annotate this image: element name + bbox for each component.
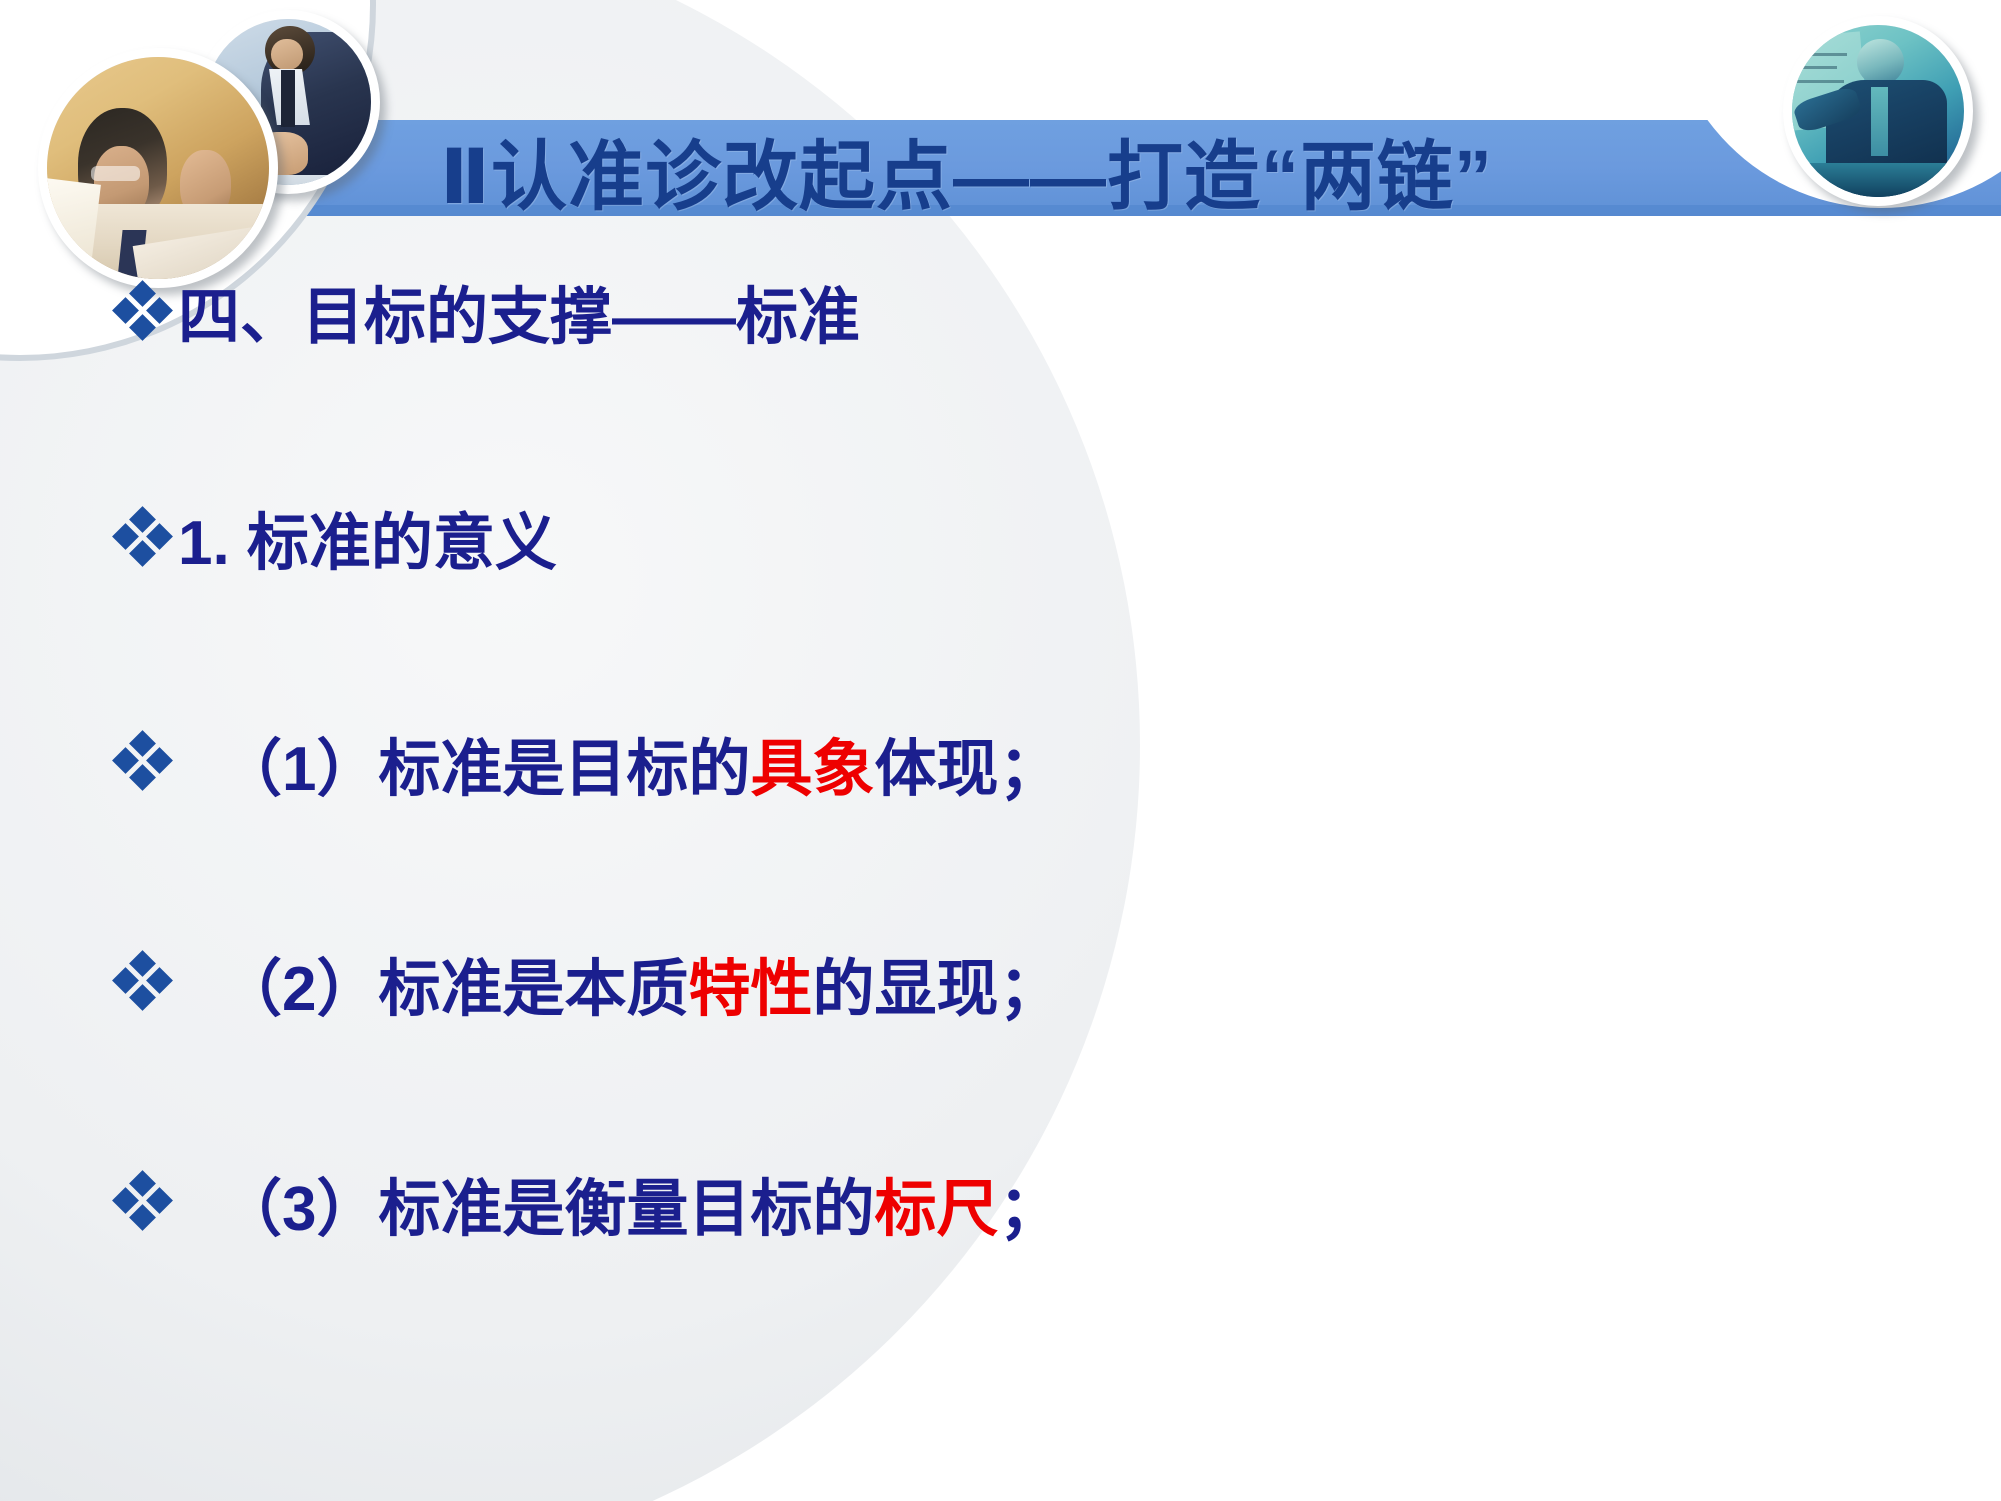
list-item[interactable]: （1）标准是目标的 具象 体现； [112,718,1061,808]
bullet-diamond-icon [112,952,174,1014]
bullet-diamond-icon [112,282,170,340]
photo-businessman-presenting [1783,16,1973,206]
list-item[interactable]: 四、目标的支撑——标准 [112,266,860,356]
list-item[interactable]: 1. 标准的意义 [112,492,557,582]
bullet-text-5-part2: ； [999,1158,1061,1248]
bullet-text-4-part2: 的显现； [813,938,1061,1028]
bullet-text-1: 四、目标的支撑——标准 [178,266,860,356]
slide: Ⅱ认准诊改起点——打造“两链” [0,0,2001,1501]
bullet-text-5-part1: （3）标准是衡量目标的 [220,1158,874,1248]
bullet-text-3-part1: （1）标准是目标的 [220,718,750,808]
photo-two-colleagues-at-laptop [38,48,278,288]
bullet-diamond-icon [112,1172,174,1234]
bullet-text-3-highlight: 具象 [750,718,874,808]
page-title: Ⅱ认准诊改起点——打造“两链” [440,118,1760,222]
bullet-text-4-highlight: 特性 [688,938,812,1028]
bullet-diamond-icon [112,732,174,794]
list-item[interactable]: （2）标准是本质 特性 的显现； [112,938,1061,1028]
bullet-text-3-part2: 体现； [875,718,1061,808]
list-item[interactable]: （3）标准是衡量目标的 标尺 ； [112,1158,1061,1248]
bullet-text-2: 1. 标准的意义 [178,492,557,582]
bullet-diamond-icon [112,508,170,566]
bullet-text-4-part1: （2）标准是本质 [220,938,688,1028]
bullet-text-5-highlight: 标尺 [874,1158,998,1248]
